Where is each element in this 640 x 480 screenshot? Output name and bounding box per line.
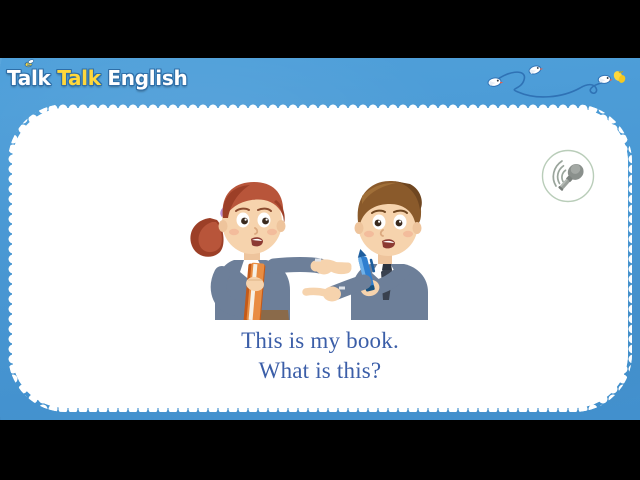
- video-player-screen: Talk Talk English: [0, 0, 640, 480]
- mic-body: [554, 161, 586, 195]
- bee-icon: [24, 59, 38, 71]
- logo-word-3: English: [107, 66, 187, 90]
- letterbox-top: [0, 0, 640, 58]
- lesson-card: This is my book. What is this?: [12, 108, 628, 408]
- bird-icon: [528, 64, 544, 76]
- bird-icon: [598, 74, 613, 83]
- letterbox-bottom: [0, 420, 640, 480]
- caption-line-2: What is this?: [12, 356, 628, 386]
- girl-character: [190, 182, 348, 320]
- lesson-slide: Talk Talk English: [0, 58, 640, 420]
- caption-text: This is my book. What is this?: [12, 326, 628, 386]
- logo-word-2: Talk: [57, 66, 101, 90]
- flying-birds-icon: [484, 62, 634, 104]
- caption-line-1: This is my book.: [12, 326, 628, 356]
- bird-icon: [487, 77, 503, 87]
- microphone-icon[interactable]: [540, 148, 596, 204]
- app-logo: Talk Talk English: [7, 68, 187, 89]
- butterfly-icon: [612, 70, 626, 84]
- boy-character: [306, 181, 428, 320]
- characters-illustration: [12, 160, 628, 320]
